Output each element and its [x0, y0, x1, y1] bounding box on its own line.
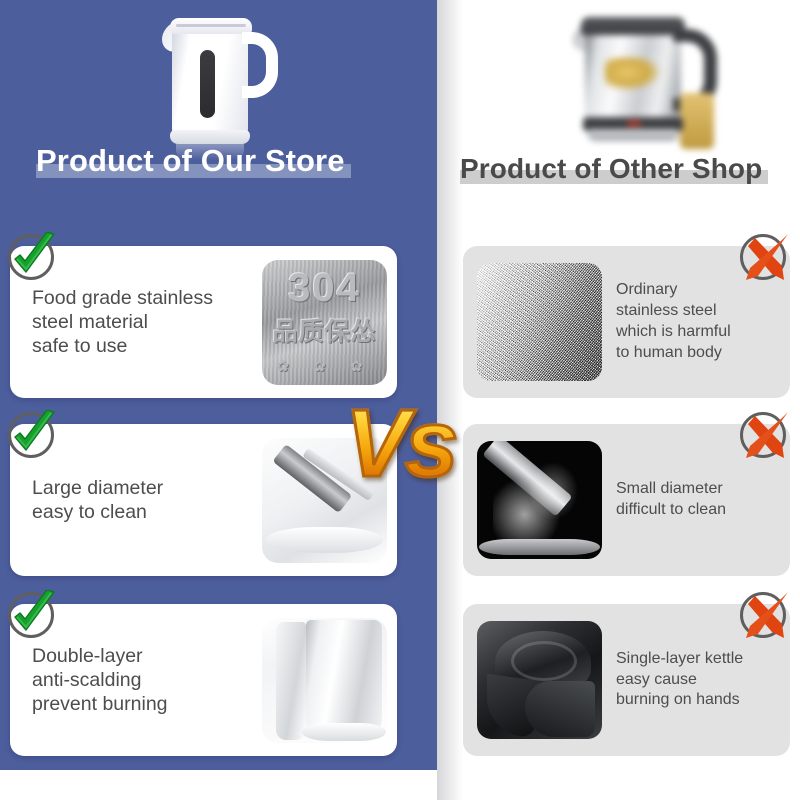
glass-kettle-base: [587, 129, 679, 141]
double-layer-wall-image: [262, 618, 387, 743]
pro-card-thumbnail: 304 品质保怂 ✿ ✿ ✿: [262, 260, 387, 385]
check-icon: [6, 232, 58, 284]
check-icon-glyph: [6, 410, 58, 462]
pro-card-thumbnail: [262, 618, 387, 743]
con-card-text: Small diameter difficult to clean: [602, 479, 790, 521]
kettle-lid-seam: [176, 24, 246, 27]
heading-other-shop-label: Product of Other Shop: [460, 153, 762, 185]
glass-kettle-lid: [581, 17, 685, 35]
kettle-lid-ring: [511, 641, 577, 681]
versus-badge: Vs: [345, 388, 500, 503]
kettle-water-window: [200, 50, 215, 118]
kettle-base-edge: [479, 539, 600, 555]
cross-icon: [738, 410, 790, 462]
black-single-layer-kettle-image: [477, 621, 602, 739]
stamp-grade-label: 304: [262, 266, 387, 311]
check-icon: [6, 590, 58, 642]
kettle-edge: [525, 681, 595, 737]
pro-card: Double-layer anti-scalding prevent burni…: [10, 604, 397, 756]
cross-icon: [738, 232, 790, 284]
comparison-row: Food grade stainless steel material safe…: [0, 246, 800, 398]
check-icon: [6, 410, 58, 462]
stamp-stars-label: ✿ ✿ ✿: [262, 357, 387, 375]
pro-card: Large diameter easy to clean: [10, 424, 397, 576]
pro-card: Food grade stainless steel material safe…: [10, 246, 397, 398]
heading-our-store: Product of Our Store: [36, 143, 345, 179]
comparison-row: Double-layer anti-scalding prevent burni…: [0, 604, 800, 756]
con-card-thumbnail: [477, 621, 602, 739]
kettle-rim: [266, 527, 383, 553]
inner-wall: [306, 620, 382, 736]
glass-kettle-image: [565, 5, 730, 150]
comparison-poster: Product of Our Store Product of Other Sh…: [0, 0, 800, 800]
stainless-304-stamp-image: 304 品质保怂 ✿ ✿ ✿: [262, 260, 387, 385]
con-card-text: Ordinary stainless steel which is harmfu…: [602, 280, 790, 363]
heading-other-shop: Product of Other Shop: [460, 153, 762, 185]
con-card-thumbnail: [477, 263, 602, 381]
cross-icon-glyph: [738, 590, 790, 642]
steam-plume-secondary: [527, 461, 579, 521]
con-card-text: Single-layer kettle easy cause burning o…: [602, 649, 790, 711]
outer-wall: [276, 622, 306, 740]
cross-icon: [738, 590, 790, 642]
pro-card-text: Food grade stainless steel material safe…: [10, 286, 262, 359]
heading-our-store-label: Product of Our Store: [36, 143, 345, 179]
pro-card-text: Large diameter easy to clean: [10, 476, 262, 524]
cross-icon-glyph: [738, 410, 790, 462]
versus-badge-label: Vs: [345, 390, 454, 497]
kettle-base: [170, 130, 250, 144]
white-kettle-image: [150, 8, 290, 148]
vessel-bottom: [302, 723, 386, 741]
glass-kettle-wood-accent: [680, 93, 714, 149]
kettle-handle: [242, 32, 278, 98]
ordinary-steel-texture-image: [477, 263, 602, 381]
cross-icon-glyph: [738, 232, 790, 284]
pro-card-text: Double-layer anti-scalding prevent burni…: [10, 644, 262, 717]
glass-kettle-indicator-light: [627, 121, 641, 126]
glass-kettle-tea: [605, 57, 661, 91]
stamp-cjk-label: 品质保怂: [262, 312, 387, 348]
check-icon-glyph: [6, 232, 58, 284]
check-icon-glyph: [6, 590, 58, 642]
